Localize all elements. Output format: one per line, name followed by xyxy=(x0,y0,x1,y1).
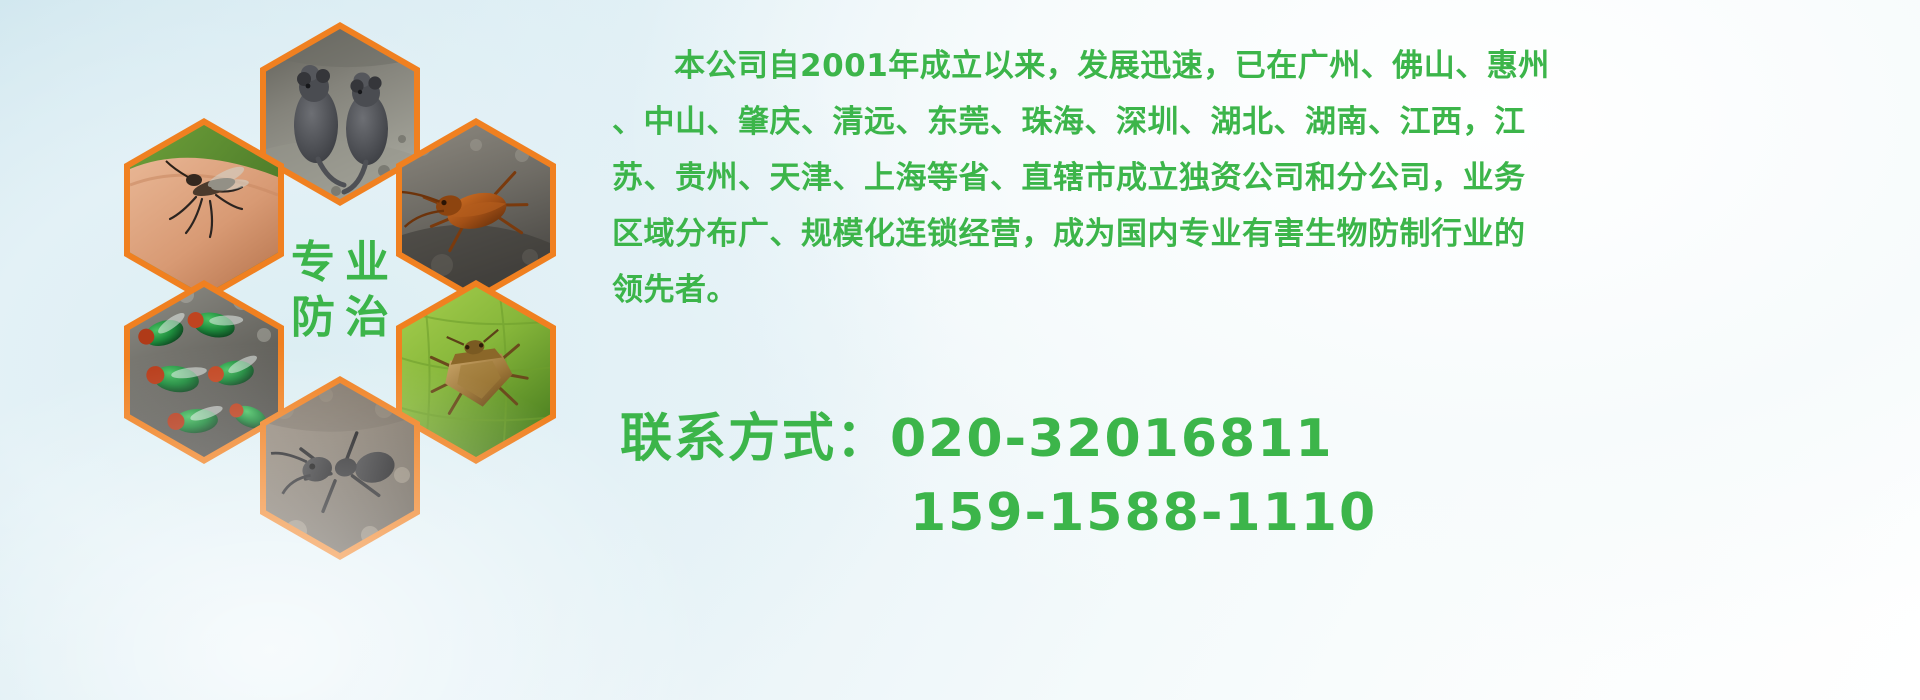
contact-phone-landline[interactable]: 联系方式：020-32016811 xyxy=(620,402,1910,476)
description-line-5: 领先者。 xyxy=(612,262,1912,318)
rat-photo-art xyxy=(266,29,414,199)
rat-photo xyxy=(266,29,414,199)
hex-center-line-2: 防治 xyxy=(281,293,399,342)
hex-center-line-1: 专业 xyxy=(281,238,399,287)
promo-banner: 专业 防治 本公司自2001年成立以来，发展迅速，已在广州、佛山、惠州 、中山、… xyxy=(0,0,1920,700)
flies-photo xyxy=(130,287,278,457)
hex-cell-stinkbug-photo xyxy=(396,280,556,464)
cockroach-photo-art xyxy=(402,125,550,295)
contact-info: 联系方式：020-32016811 159-1588-1110 xyxy=(620,402,1910,550)
company-description: 本公司自2001年成立以来，发展迅速，已在广州、佛山、惠州 、中山、肇庆、清远、… xyxy=(612,38,1912,318)
hex-cell-cockroach-photo xyxy=(396,118,556,302)
ant-photo xyxy=(266,383,414,553)
description-line-3: 苏、贵州、天津、上海等省、直辖市成立独资公司和分公司，业务 xyxy=(612,150,1912,206)
hex-photo-cluster: 专业 防治 xyxy=(90,8,590,568)
description-line-1: 本公司自2001年成立以来，发展迅速，已在广州、佛山、惠州 xyxy=(612,38,1912,94)
mosquito-photo-art xyxy=(130,125,278,295)
description-line-4: 区域分布广、规模化连锁经营，成为国内专业有害生物防制行业的 xyxy=(612,206,1912,262)
stinkbug-photo-art xyxy=(402,287,550,457)
contact-phone-mobile[interactable]: 159-1588-1110 xyxy=(620,476,1910,550)
cockroach-photo xyxy=(402,125,550,295)
hex-center-label: 专业 防治 xyxy=(260,198,420,382)
flies-photo-art xyxy=(130,287,278,457)
stinkbug-photo xyxy=(402,287,550,457)
ant-photo-art xyxy=(266,383,414,553)
description-line-2: 、中山、肇庆、清远、东莞、珠海、深圳、湖北、湖南、江西，江 xyxy=(612,94,1912,150)
mosquito-photo xyxy=(130,125,278,295)
